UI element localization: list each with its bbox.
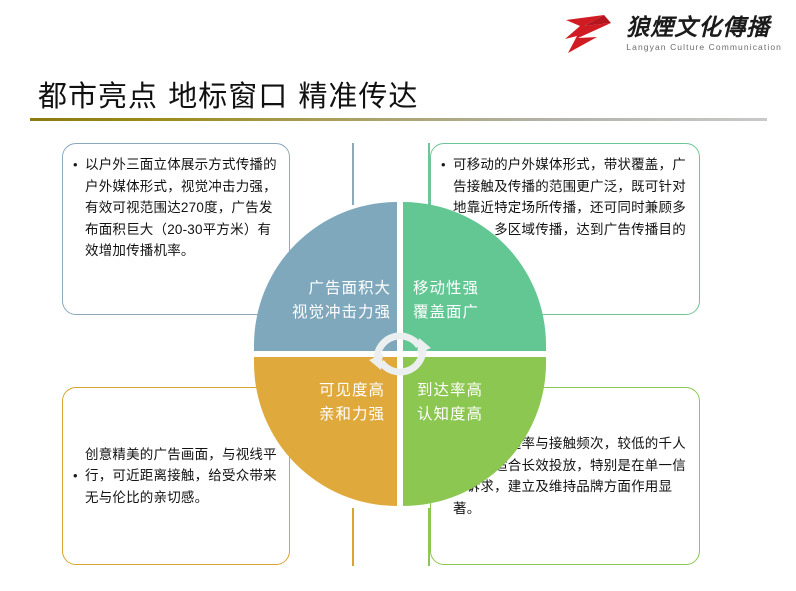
wheel-quadrant-top-left[interactable]: 广告面积大 视觉冲击力强: [254, 202, 397, 351]
wheel-label-line1: 可见度高: [319, 379, 385, 403]
company-logo: 狼煙文化傳播 Langyan Culture Communication: [564, 12, 782, 56]
wheel-quadrant-top-right-label: 移动性强 覆盖面广: [413, 277, 479, 325]
wheel-quadrant-bottom-left-label: 可见度高 亲和力强: [319, 379, 385, 427]
logo-chinese-name: 狼煙文化傳播: [626, 16, 770, 39]
four-quadrant-wheel: 广告面积大 视觉冲击力强 移动性强 覆盖面广 可见度高 亲和力强 到达率高 认知…: [254, 202, 546, 506]
red-arrow-logo-mark: [564, 12, 618, 56]
wheel-label-line2: 覆盖面广: [413, 301, 479, 325]
wheel-quadrant-bottom-right-label: 到达率高 认知度高: [417, 379, 483, 427]
bullet-marker: •: [73, 154, 85, 304]
wheel-quadrant-top-right[interactable]: 移动性强 覆盖面广: [403, 202, 546, 351]
wheel-quadrant-bottom-left[interactable]: 可见度高 亲和力强: [254, 357, 397, 506]
wheel-label-line1: 广告面积大: [292, 277, 391, 301]
logo-english-name: Langyan Culture Communication: [626, 43, 782, 52]
wheel-label-line2: 视觉冲击力强: [292, 301, 391, 325]
connector-top-left: [352, 143, 354, 205]
title-divider: [30, 118, 767, 121]
wheel-quadrant-bottom-right[interactable]: 到达率高 认知度高: [403, 357, 546, 506]
wheel-label-line1: 到达率高: [417, 379, 483, 403]
wheel-label-line2: 亲和力强: [319, 403, 385, 427]
bullet-marker: •: [73, 465, 85, 487]
callout-top-left-text: 以户外三面立体展示方式传播的户外媒体形式，视觉冲击力强，有效可视范围达270度，…: [85, 154, 277, 304]
callout-bottom-left-text: 创意精美的广告画面，与视线平行，可近距离接触，给受众带来无与伦比的亲切感。: [85, 444, 277, 509]
wheel-label-line1: 移动性强: [413, 277, 479, 301]
wheel-quadrant-top-left-label: 广告面积大 视觉冲击力强: [292, 277, 391, 325]
connector-bottom-left: [352, 508, 354, 566]
page-title: 都市亮点 地标窗口 精准传达: [38, 73, 418, 115]
wheel-label-line2: 认知度高: [417, 403, 483, 427]
